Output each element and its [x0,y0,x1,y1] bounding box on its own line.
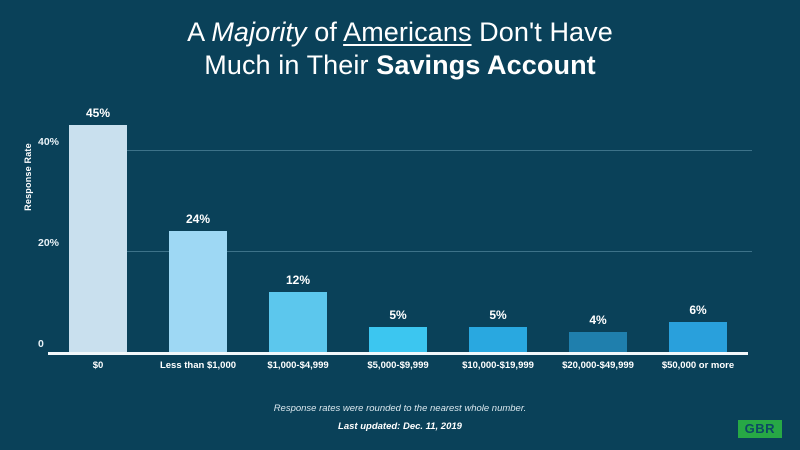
bar-slot: 12% [248,100,348,352]
bar[interactable] [669,322,727,352]
x-axis-label: $1,000-$4,999 [248,360,348,371]
bar-slot: 45% [48,100,148,352]
bar[interactable] [69,125,127,352]
bar-slot: 4% [548,100,648,352]
bar-value-label: 5% [389,308,406,322]
plot-area: Response Rate 020%40% 45%24%12%5%5%4%6% … [0,0,800,450]
bar[interactable] [369,327,427,352]
bar-value-label: 6% [689,303,706,317]
footnote-last-updated: Last updated: Dec. 11, 2019 [0,421,800,432]
x-axis-label: $10,000-$19,999 [448,360,548,371]
x-axis-label: $50,000 or more [648,360,748,371]
y-axis-title: Response Rate [23,107,33,247]
bar-value-label: 4% [589,313,606,327]
gbr-logo: GBR [738,420,782,438]
bar-slot: 5% [348,100,448,352]
bar[interactable] [569,332,627,352]
bar-value-label: 5% [489,308,506,322]
bar-value-label: 24% [186,212,210,226]
x-axis-label: $0 [48,360,148,371]
chart-canvas: A Majority of Americans Don't Have Much … [0,0,800,450]
bar[interactable] [269,292,327,352]
x-axis-line [48,352,748,355]
x-axis-label: $20,000-$49,999 [548,360,648,371]
x-axis-label: Less than $1,000 [148,360,248,371]
x-axis-label: $5,000-$9,999 [348,360,448,371]
bar-slot: 6% [648,100,748,352]
bar-value-label: 12% [286,273,310,287]
bar-value-label: 45% [86,106,110,120]
bars-group: 45%24%12%5%5%4%6% [48,100,748,352]
bar-slot: 5% [448,100,548,352]
bar-slot: 24% [148,100,248,352]
bar[interactable] [169,231,227,352]
bar[interactable] [469,327,527,352]
footnote-rounding: Response rates were rounded to the neare… [0,403,800,414]
